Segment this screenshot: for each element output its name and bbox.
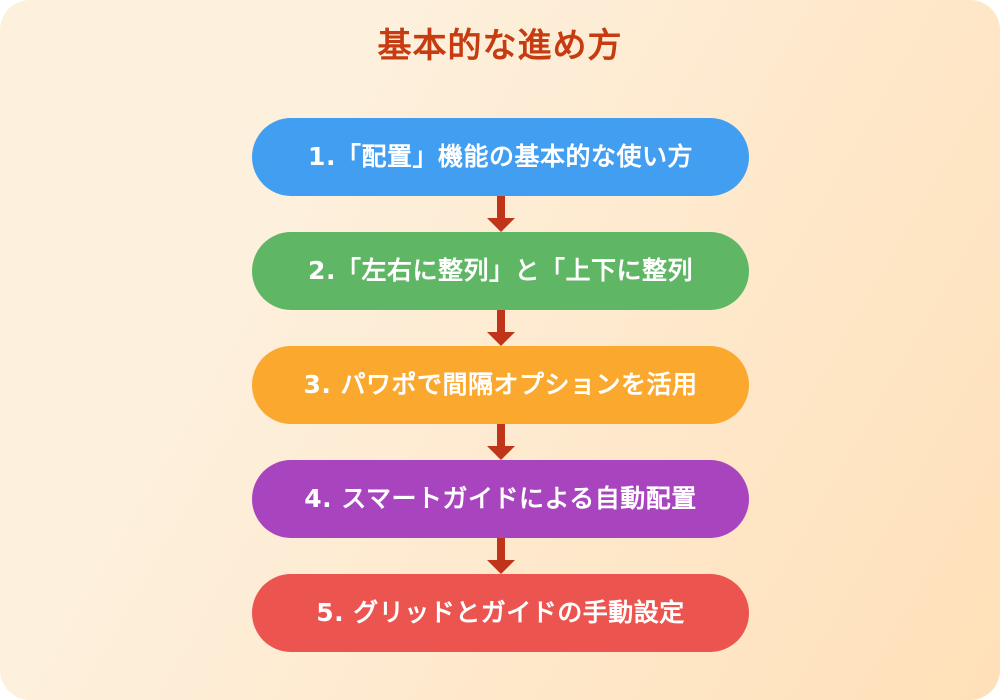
flow-step-1[interactable]: 1.「配置」機能の基本的な使い方 <box>252 118 749 196</box>
flow-step-3-label: 3. パワポで間隔オプションを活用 <box>303 371 697 400</box>
flow-step-2-label: 2.「左右に整列」と「上下に整列 <box>308 257 693 286</box>
flow-step-1-label: 1.「配置」機能の基本的な使い方 <box>308 143 693 172</box>
down-arrow-icon <box>487 310 515 346</box>
flow-step-3-wrapper: 3. パワポで間隔オプションを活用 <box>252 346 749 424</box>
page-title: 基本的な進め方 <box>0 26 1000 67</box>
flow-step-4[interactable]: 4. スマートガイドによる自動配置 <box>252 460 749 538</box>
connector-2-to-3 <box>252 310 749 346</box>
down-arrow-icon <box>487 538 515 574</box>
flow-step-2-wrapper: 2.「左右に整列」と「上下に整列 <box>252 232 749 310</box>
connector-4-to-5 <box>252 538 749 574</box>
down-arrow-icon <box>487 424 515 460</box>
flow-step-1-wrapper: 1.「配置」機能の基本的な使い方 <box>252 118 749 196</box>
connector-3-to-4 <box>252 424 749 460</box>
flow-step-5-wrapper: 5. グリッドとガイドの手動設定 <box>252 574 749 652</box>
infographic-canvas: 基本的な進め方 1.「配置」機能の基本的な使い方 2.「左右に整列」と「上下に整… <box>0 0 1000 700</box>
flow-step-2[interactable]: 2.「左右に整列」と「上下に整列 <box>252 232 749 310</box>
flow-step-4-label: 4. スマートガイドによる自動配置 <box>304 485 697 514</box>
down-arrow-icon <box>487 196 515 232</box>
connector-1-to-2 <box>252 196 749 232</box>
flowchart: 1.「配置」機能の基本的な使い方 2.「左右に整列」と「上下に整列 3. パワポ <box>252 118 749 652</box>
flow-step-5-label: 5. グリッドとガイドの手動設定 <box>316 599 685 628</box>
flow-step-5[interactable]: 5. グリッドとガイドの手動設定 <box>252 574 749 652</box>
flow-step-3[interactable]: 3. パワポで間隔オプションを活用 <box>252 346 749 424</box>
flow-step-4-wrapper: 4. スマートガイドによる自動配置 <box>252 460 749 538</box>
